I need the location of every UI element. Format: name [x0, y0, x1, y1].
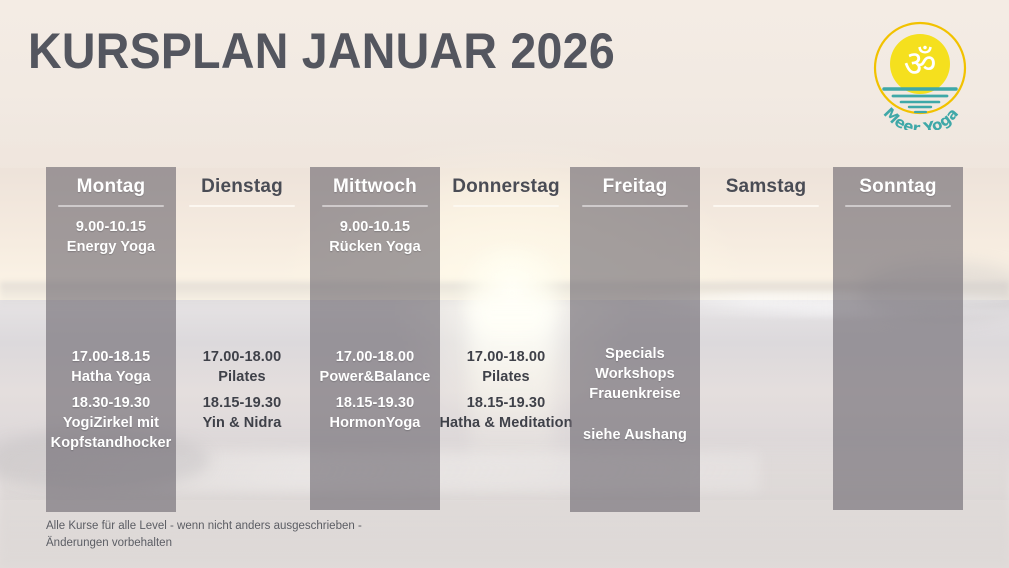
specials-line-3: Frauenkreise	[560, 384, 710, 404]
class-slot-montag-morning[interactable]: 9.00-10.15 Energy Yoga	[36, 217, 186, 257]
day-header-donnerstag: Donnerstag	[441, 167, 571, 198]
class-time: 17.00-18.00	[300, 347, 450, 367]
class-time: 18.15-19.30	[167, 393, 317, 413]
day-header-rule	[453, 205, 559, 207]
schedule-column-sonntag[interactable]: Sonntag	[833, 167, 963, 513]
day-header-dienstag: Dienstag	[177, 167, 307, 198]
schedule-column-montag[interactable]: Montag 9.00-10.15 Energy Yoga 17.00-18.1…	[46, 167, 176, 513]
day-header-freitag: Freitag	[570, 167, 700, 198]
footer-line-2: Änderungen vorbehalten	[46, 535, 606, 552]
specials-footer: siehe Aushang	[560, 425, 710, 445]
day-header-montag: Montag	[46, 167, 176, 198]
class-name: Hatha Yoga	[36, 367, 186, 387]
day-header-mittwoch: Mittwoch	[310, 167, 440, 198]
footer-note: Alle Kurse für alle Level - wenn nicht a…	[46, 518, 606, 551]
class-time: 9.00-10.15	[300, 217, 450, 237]
schedule-column-dienstag[interactable]: Dienstag 17.00-18.00 Pilates 18.15-19.30…	[177, 167, 307, 513]
footer-line-1: Alle Kurse für alle Level - wenn nicht a…	[46, 518, 606, 535]
class-time: 18.30-19.30	[36, 393, 186, 413]
class-time: 9.00-10.15	[36, 217, 186, 237]
class-name: Power&Balance	[300, 367, 450, 387]
schedule-grid: Montag 9.00-10.15 Energy Yoga 17.00-18.1…	[46, 167, 962, 513]
class-slot-mittwoch-evening-2[interactable]: 18.15-19.30 HormonYoga	[300, 393, 450, 433]
class-name: YogiZirkel mit Kopfstandhocker	[36, 413, 186, 453]
class-name: Rücken Yoga	[300, 237, 450, 257]
class-slot-freitag-specials[interactable]: Specials Workshops Frauenkreise	[560, 344, 710, 404]
day-header-rule	[189, 205, 295, 207]
class-name: Energy Yoga	[36, 237, 186, 257]
column-panel-sonntag	[833, 167, 963, 510]
class-slot-montag-evening-1[interactable]: 17.00-18.15 Hatha Yoga	[36, 347, 186, 387]
class-slot-freitag-note[interactable]: siehe Aushang	[560, 425, 710, 445]
schedule-column-samstag[interactable]: Samstag	[701, 167, 831, 513]
column-panel-dienstag	[177, 167, 307, 513]
specials-line-1: Specials	[560, 344, 710, 364]
class-name: Pilates	[167, 367, 317, 387]
schedule-column-freitag[interactable]: Freitag Specials Workshops Frauenkreise …	[570, 167, 700, 513]
schedule-column-mittwoch[interactable]: Mittwoch 9.00-10.15 Rücken Yoga 17.00-18…	[310, 167, 440, 513]
column-panel-samstag	[701, 167, 831, 513]
class-name: Yin & Nidra	[167, 413, 317, 433]
om-icon: ॐ	[904, 44, 937, 85]
class-time: 18.15-19.30	[431, 393, 581, 413]
logo-svg: ॐ Meer Yoga	[863, 18, 977, 130]
class-slot-montag-evening-2[interactable]: 18.30-19.30 YogiZirkel mit Kopfstandhock…	[36, 393, 186, 453]
class-slot-mittwoch-morning[interactable]: 9.00-10.15 Rücken Yoga	[300, 217, 450, 257]
class-time: 17.00-18.00	[167, 347, 317, 367]
kursplan-poster: KURSPLAN JANUAR 2026 ॐ Meer Yoga	[0, 0, 1009, 568]
column-panel-freitag	[570, 167, 700, 512]
specials-line-2: Workshops	[560, 364, 710, 384]
class-slot-donnerstag-evening-2[interactable]: 18.15-19.30 Hatha & Meditation	[431, 393, 581, 433]
day-header-rule	[58, 205, 164, 207]
day-header-rule	[582, 205, 688, 207]
class-name: Hatha & Meditation	[431, 413, 581, 433]
day-header-rule	[322, 205, 428, 207]
column-panel-donnerstag	[441, 167, 571, 513]
class-time: 18.15-19.30	[300, 393, 450, 413]
class-slot-mittwoch-evening-1[interactable]: 17.00-18.00 Power&Balance	[300, 347, 450, 387]
class-name: HormonYoga	[300, 413, 450, 433]
schedule-column-donnerstag[interactable]: Donnerstag 17.00-18.00 Pilates 18.15-19.…	[441, 167, 571, 513]
page-title: KURSPLAN JANUAR 2026	[28, 22, 615, 80]
day-header-rule	[845, 205, 951, 207]
day-header-rule	[713, 205, 819, 207]
class-time: 17.00-18.15	[36, 347, 186, 367]
class-name: Pilates	[431, 367, 581, 387]
class-slot-donnerstag-evening-1[interactable]: 17.00-18.00 Pilates	[431, 347, 581, 387]
class-time: 17.00-18.00	[431, 347, 581, 367]
class-slot-dienstag-evening-1[interactable]: 17.00-18.00 Pilates	[167, 347, 317, 387]
day-header-sonntag: Sonntag	[833, 167, 963, 198]
meer-yoga-logo: ॐ Meer Yoga	[863, 18, 977, 130]
class-slot-dienstag-evening-2[interactable]: 18.15-19.30 Yin & Nidra	[167, 393, 317, 433]
day-header-samstag: Samstag	[701, 167, 831, 198]
